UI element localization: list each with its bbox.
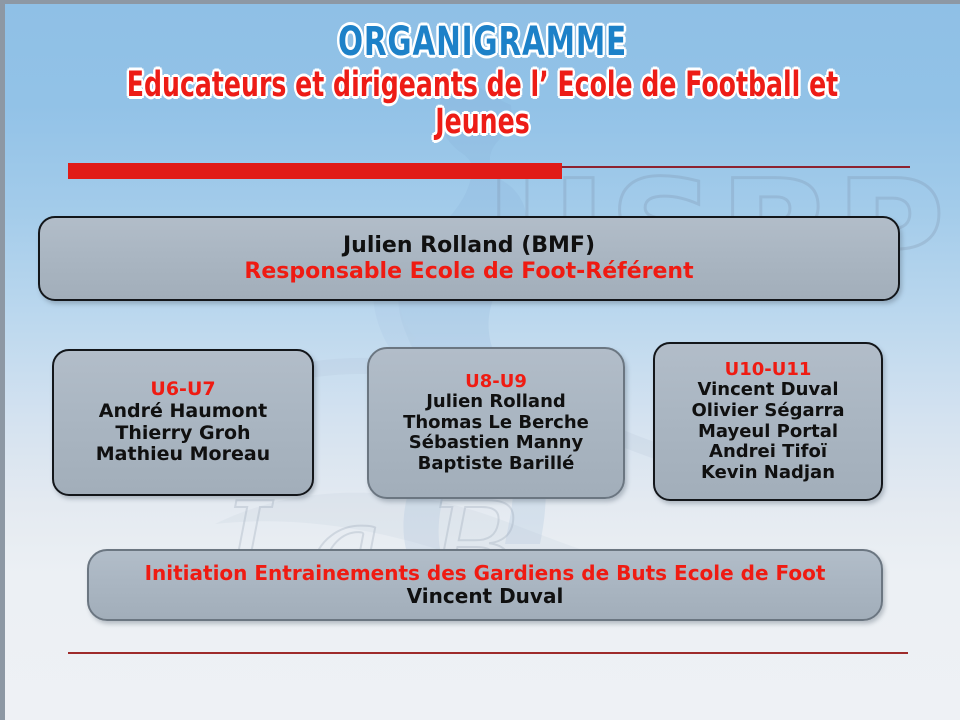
header-divider-thick [68,163,562,179]
group-member: Thomas Le Berche [403,413,589,434]
org-node-goalkeeper-training[interactable]: Initiation Entrainements des Gardiens de… [87,549,883,621]
group-member: Baptiste Barillé [418,454,575,475]
group-member: Mathieu Moreau [96,444,270,466]
goalkeeper-name: Vincent Duval [407,585,564,608]
group-label-u6-u7: U6-U7 [150,379,215,401]
goalkeeper-title: Initiation Entrainements des Gardiens de… [145,562,826,585]
group-member: Sébastien Manny [409,433,583,454]
group-member: Thierry Groh [115,423,250,445]
head-role: Responsable Ecole de Foot-Référent [244,259,693,284]
group-member: Vincent Duval [698,380,839,401]
org-node-head[interactable]: Julien Rolland (BMF) Responsable Ecole d… [38,216,900,301]
organigramme-slide: USBP La B ORGANIGRAMME Educateurs et dir… [0,0,960,720]
org-node-u6-u7[interactable]: U6-U7 André Haumont Thierry Groh Mathieu… [52,349,314,496]
group-member: André Haumont [99,401,267,423]
group-member: Andrei Tifoï [709,442,827,463]
page-title: ORGANIGRAMME [91,22,874,63]
head-name: Julien Rolland (BMF) [343,233,595,258]
slide-title-block: ORGANIGRAMME Educateurs et dirigeants de… [5,22,960,140]
group-label-u10-u11: U10-U11 [725,360,812,381]
group-member: Julien Rolland [426,392,566,413]
org-node-u10-u11[interactable]: U10-U11 Vincent Duval Olivier Ségarra Ma… [653,342,883,501]
org-node-u8-u9[interactable]: U8-U9 Julien Rolland Thomas Le Berche Sé… [367,347,625,499]
group-member: Kevin Nadjan [701,463,835,484]
page-subtitle: Educateurs et dirigeants de l’ Ecole de … [101,67,865,141]
footer-divider [68,652,908,654]
group-member: Mayeul Portal [698,422,838,443]
group-member: Olivier Ségarra [692,401,845,422]
group-label-u8-u9: U8-U9 [465,372,527,393]
